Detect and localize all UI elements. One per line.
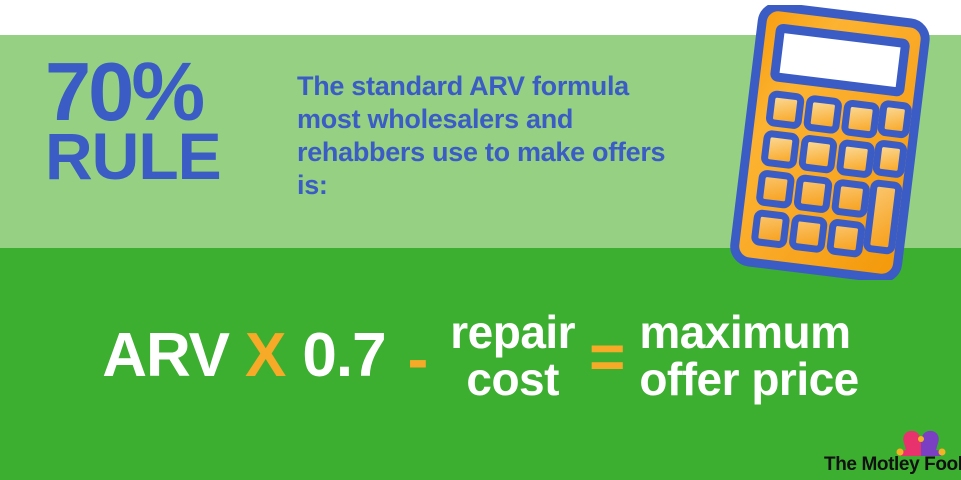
description-text: The standard ARV formula most wholesaler… [297, 70, 697, 202]
result-line-2: offer price [639, 356, 858, 403]
formula-operator-minus: - [400, 329, 437, 391]
formula-row: ARV X 0.7 - repair cost = maximum offer … [0, 296, 961, 416]
page-title: 70% RULE [45, 54, 270, 187]
calculator-icon [725, 5, 935, 280]
repair-line-1: repair [450, 309, 575, 356]
formula-term-max-offer-price: maximum offer price [639, 309, 858, 403]
formula-operator-equals: = [575, 327, 639, 389]
formula-term-factor: 0.7 [302, 325, 385, 387]
infographic-canvas: 70% RULE The standard ARV formula most w… [0, 0, 961, 480]
logo-wordmark: The Motley Fool [824, 454, 961, 476]
formula-operator-times: X [229, 325, 302, 387]
result-line-1: maximum [639, 309, 858, 356]
rule-word: RULE [45, 126, 270, 187]
formula-term-repair-cost: repair cost [450, 309, 575, 403]
repair-line-2: cost [450, 356, 575, 403]
formula-term-arv: ARV [102, 325, 229, 387]
motley-fool-logo: The Motley Fool [824, 430, 950, 476]
jester-hat-icon [896, 430, 948, 456]
